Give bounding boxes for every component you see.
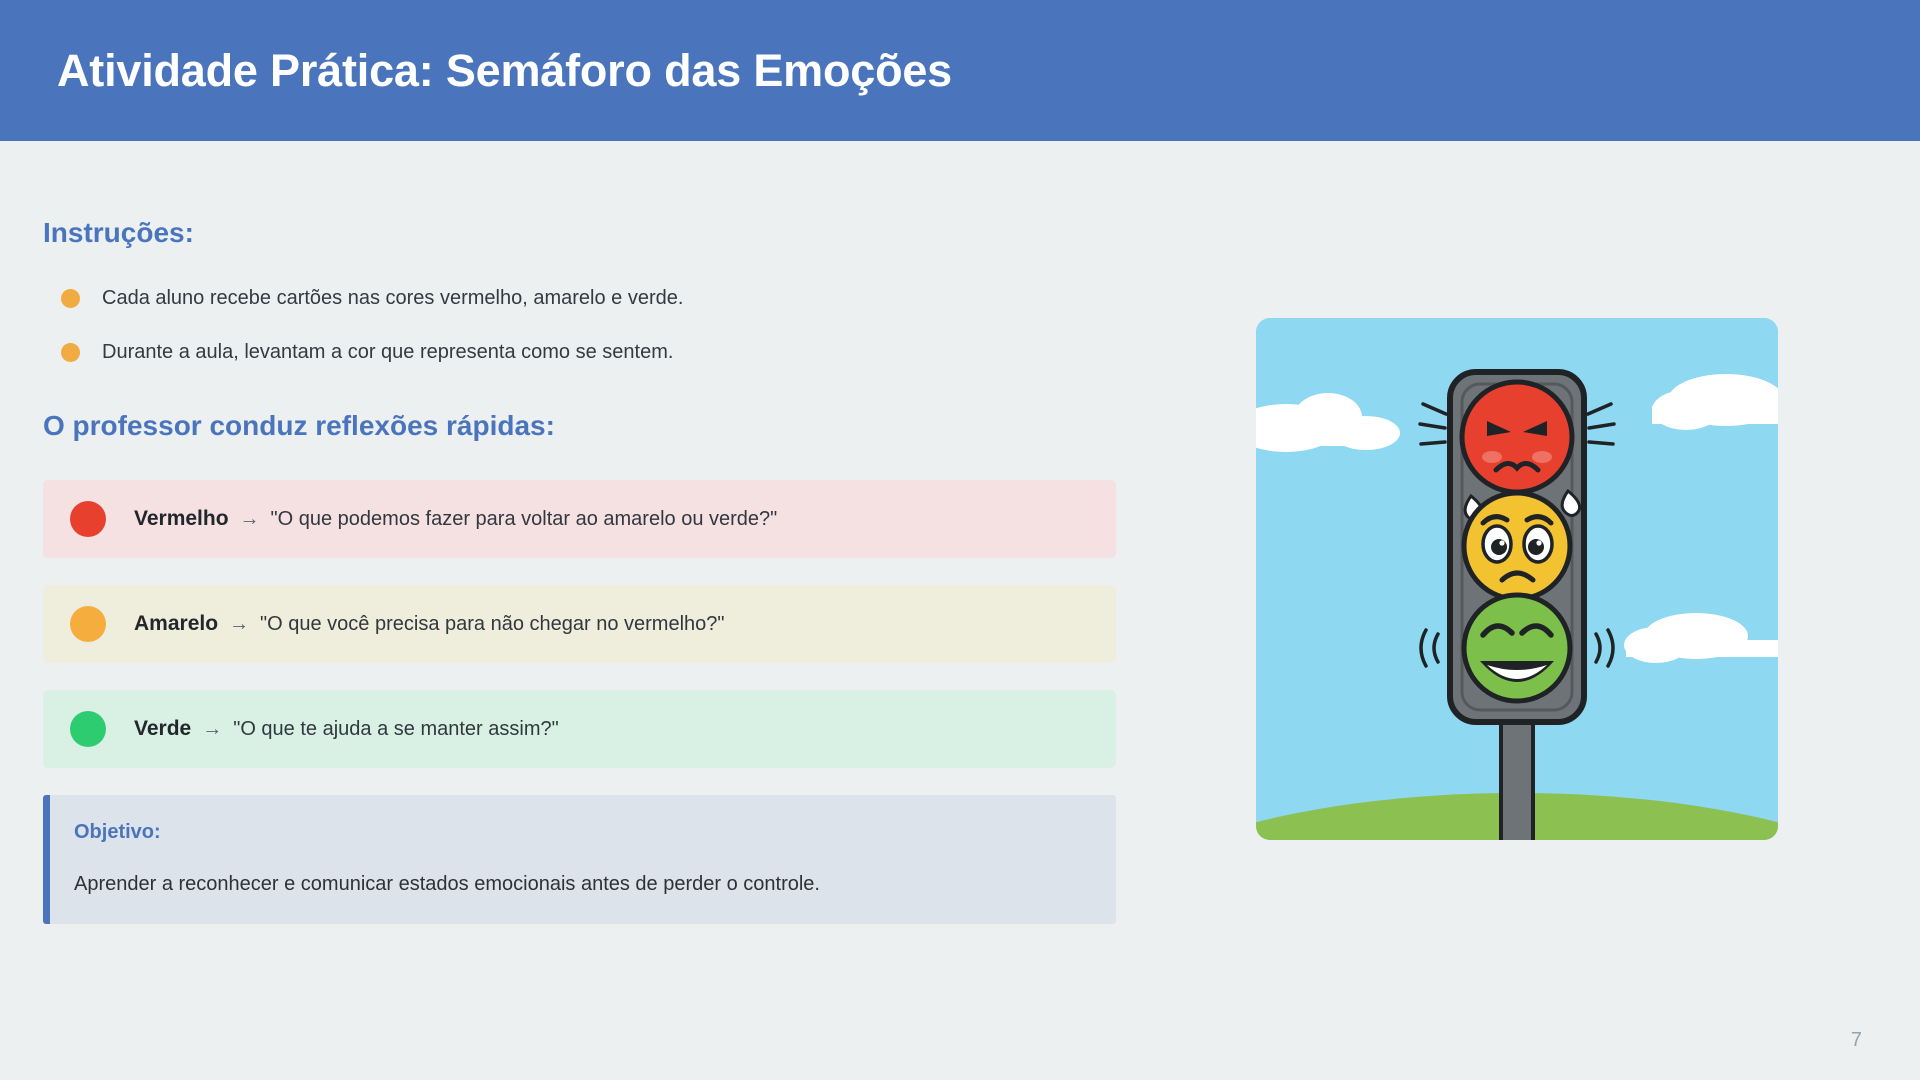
green-happy-face [1464, 595, 1570, 701]
card-label: Amarelo [134, 612, 218, 636]
instructions-heading: Instruções: [43, 216, 1123, 250]
objective-box: Objetivo: Aprender a reconhecer e comuni… [43, 795, 1116, 924]
reflection-card-verde: Verde → "O que te ajuda a se manter assi… [43, 690, 1116, 768]
slide-body: Instruções: Cada aluno recebe cartões na… [0, 141, 1920, 1080]
traffic-light-svg [1256, 318, 1778, 840]
reflection-card-vermelho: Vermelho → "O que podemos fazer para vol… [43, 480, 1116, 558]
arrow-right-icon: → [202, 718, 222, 741]
instructions-list: Cada aluno recebe cartões nas cores verm… [43, 280, 1123, 372]
reflections-heading: O professor conduz reflexões rápidas: [43, 409, 1123, 443]
red-angry-face [1462, 382, 1572, 492]
traffic-light-emotions-illustration [1256, 318, 1778, 840]
reflection-cards: Vermelho → "O que podemos fazer para vol… [43, 480, 1123, 768]
objective-text: Aprender a reconhecer e comunicar estado… [74, 871, 1086, 898]
traffic-light-pole [1501, 713, 1533, 840]
card-label: Vermelho [134, 507, 229, 531]
yellow-circle-icon [70, 606, 106, 642]
list-item: Durante a aula, levantam a cor que repre… [43, 334, 1123, 372]
left-column: Instruções: Cada aluno recebe cartões na… [43, 141, 1123, 924]
card-question: "O que podemos fazer para voltar ao amar… [271, 508, 778, 531]
objective-title: Objetivo: [74, 821, 1086, 844]
card-question: "O que te ajuda a se manter assim?" [233, 718, 558, 741]
red-circle-icon [70, 501, 106, 537]
page-title: Atividade Prática: Semáforo das Emoções [57, 46, 952, 96]
arrow-right-icon: → [240, 508, 260, 531]
slide-header: Atividade Prática: Semáforo das Emoções [0, 0, 1920, 141]
green-circle-icon [70, 711, 106, 747]
card-question: "O que você precisa para não chegar no v… [260, 613, 724, 636]
page-number: 7 [1851, 1029, 1862, 1052]
arrow-right-icon: → [229, 613, 249, 636]
bullet-dot-icon [61, 343, 80, 362]
list-item: Cada aluno recebe cartões nas cores verm… [43, 280, 1123, 318]
list-item-text: Cada aluno recebe cartões nas cores verm… [102, 285, 683, 312]
bullet-dot-icon [61, 289, 80, 308]
yellow-worried-face [1464, 493, 1570, 599]
reflection-card-amarelo: Amarelo → "O que você precisa para não c… [43, 585, 1116, 663]
list-item-text: Durante a aula, levantam a cor que repre… [102, 339, 673, 366]
card-label: Verde [134, 717, 191, 741]
